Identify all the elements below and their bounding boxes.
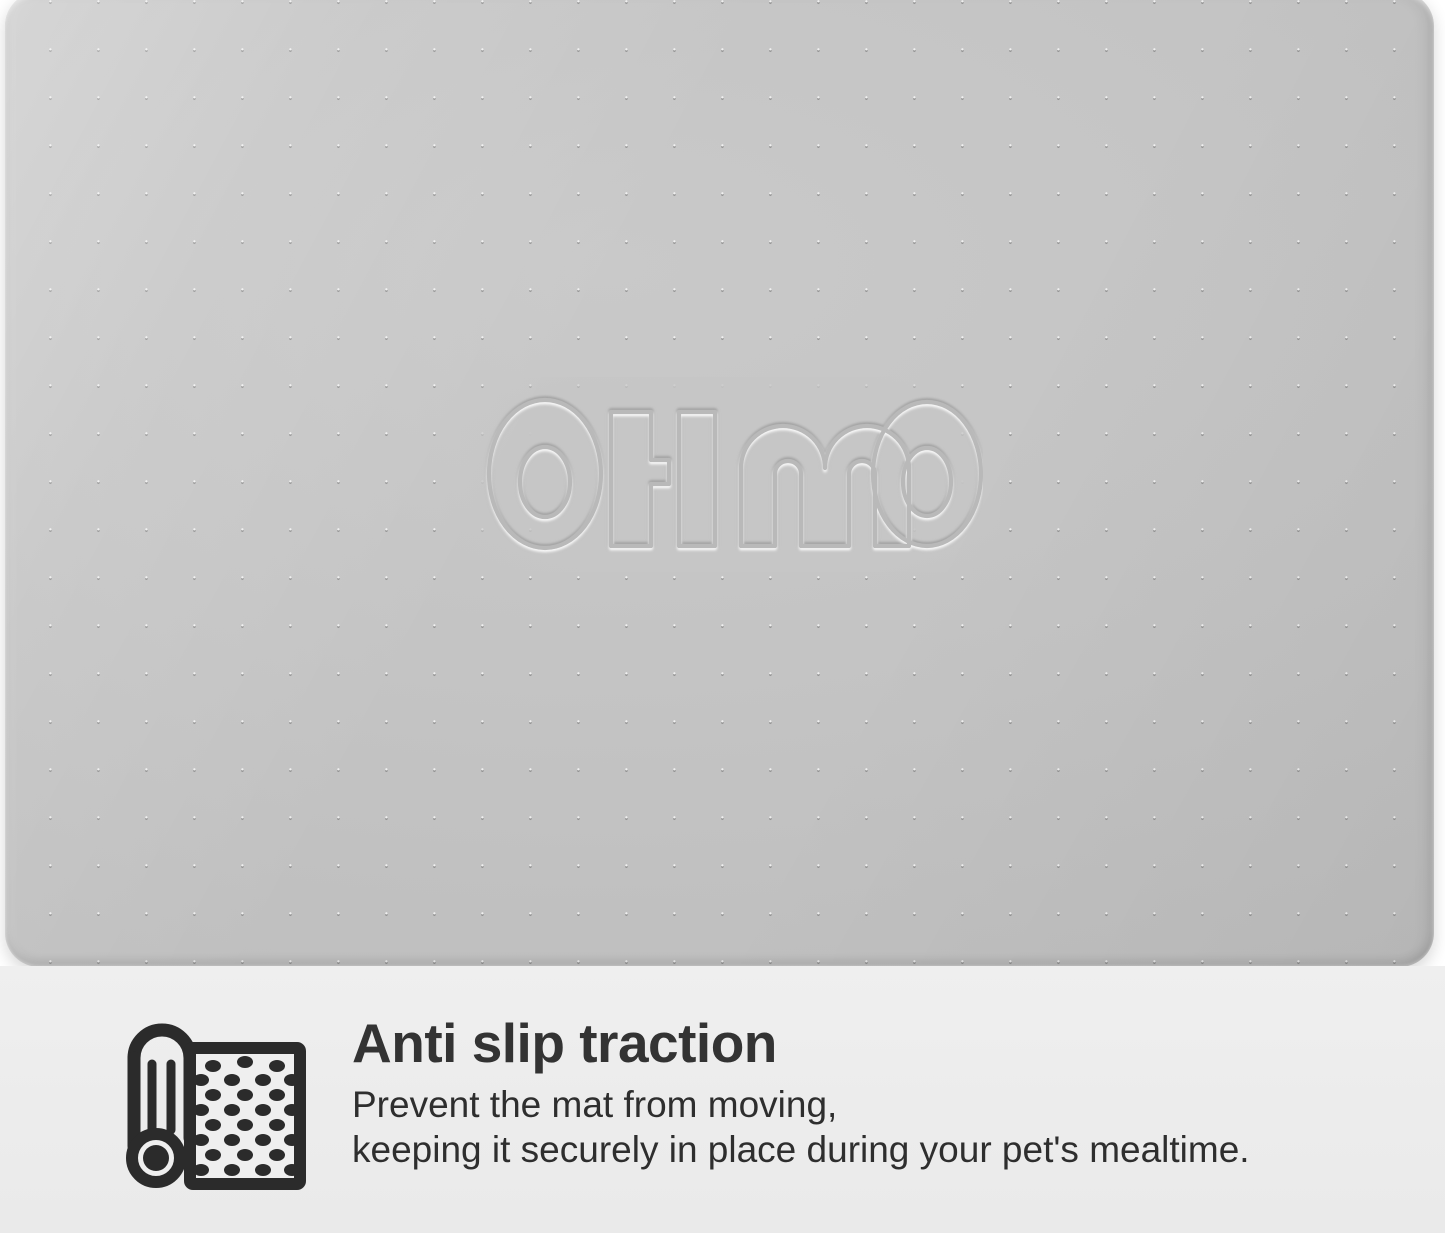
mat-edge-bevel [5,0,1434,967]
pet-feeding-mat [5,0,1434,967]
feature-description-line-1: Prevent the mat from moving, [352,1082,1412,1127]
feature-caption-text: Anti slip traction Prevent the mat from … [352,1014,1412,1173]
feature-title: Anti slip traction [352,1014,1412,1072]
anti-slip-dot-texture [5,0,1434,967]
product-feature-card: Anti slip traction Prevent the mat from … [0,0,1445,1233]
logo-clear-zone [460,377,1000,572]
mat-surface-highlight [5,0,1434,967]
feature-description-line-2: keeping it securely in place during your… [352,1127,1412,1172]
feature-description: Prevent the mat from moving, keeping it … [352,1082,1412,1172]
product-hero-image [0,0,1445,980]
rolled-mat-with-dots-icon [112,1018,312,1190]
embossed-brand-logo [483,390,983,558]
